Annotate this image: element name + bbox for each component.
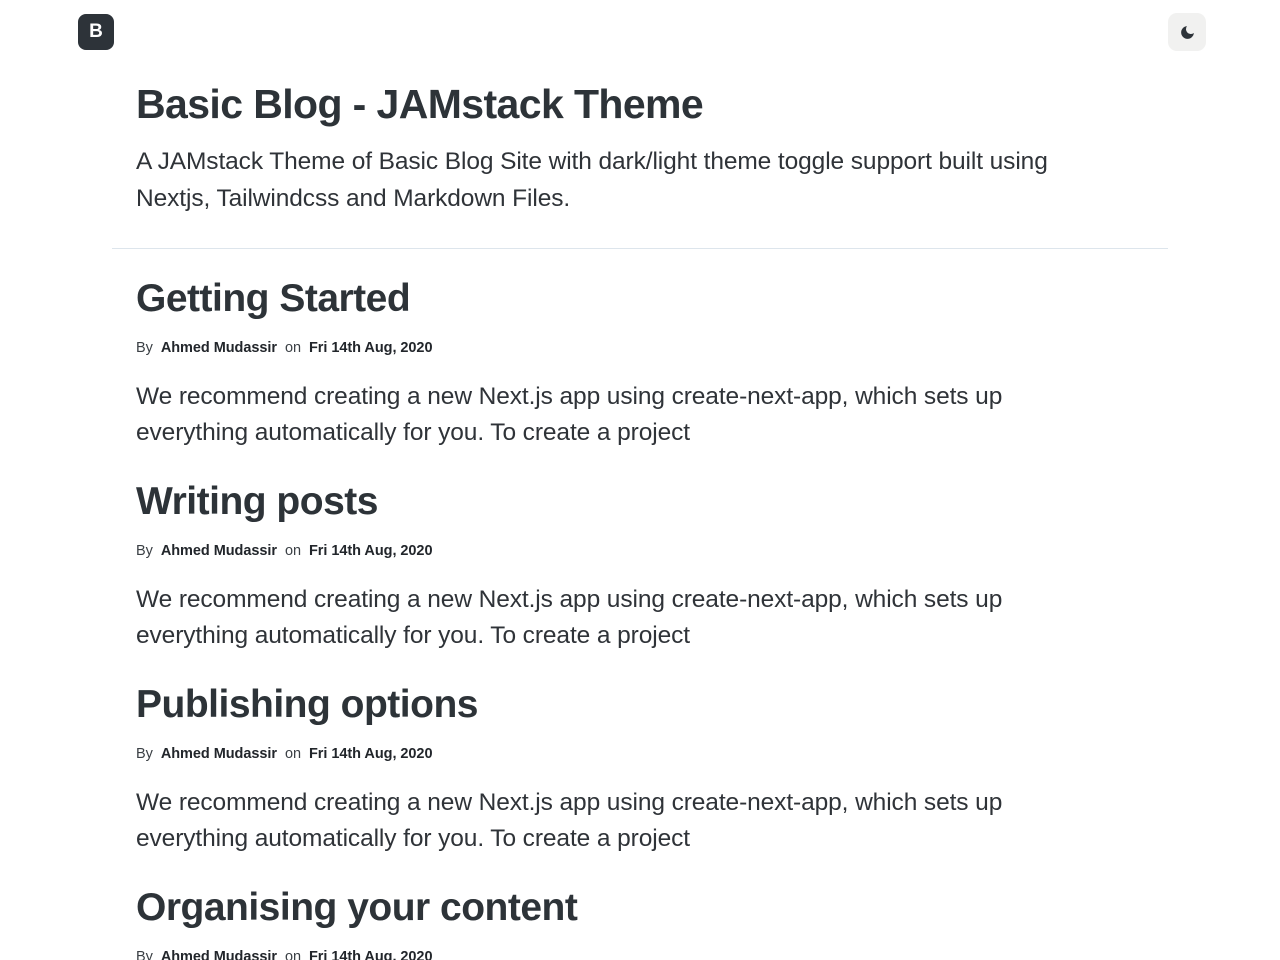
moon-icon — [1179, 24, 1196, 41]
byline-on-label: on — [285, 745, 301, 764]
post-title-link[interactable]: Publishing options — [136, 682, 478, 729]
post-author: Ahmed Mudassir — [161, 948, 277, 960]
post-title-link[interactable]: Organising your content — [136, 885, 577, 932]
post-item: Getting Started By Ahmed Mudassir on Fri… — [136, 249, 1168, 451]
intro-block: Basic Blog - JAMstack Theme A JAMstack T… — [0, 64, 1280, 217]
main-content: Basic Blog - JAMstack Theme A JAMstack T… — [0, 64, 1280, 960]
byline-by-label: By — [136, 948, 153, 960]
post-item: Publishing options By Ahmed Mudassir on … — [136, 654, 1168, 857]
site-description: A JAMstack Theme of Basic Blog Site with… — [136, 144, 1096, 217]
post-list: Getting Started By Ahmed Mudassir on Fri… — [0, 249, 1280, 960]
post-author: Ahmed Mudassir — [161, 542, 277, 561]
post-date: Fri 14th Aug, 2020 — [309, 542, 432, 561]
logo-button[interactable]: B — [78, 14, 114, 50]
post-byline: By Ahmed Mudassir on Fri 14th Aug, 2020 — [136, 745, 1168, 764]
blog-page: B Basic Blog - JAMstack Theme A JAMstack… — [0, 0, 1280, 960]
post-excerpt: We recommend creating a new Next.js app … — [136, 379, 1116, 452]
theme-toggle-button[interactable] — [1168, 13, 1206, 51]
post-author: Ahmed Mudassir — [161, 745, 277, 764]
post-date: Fri 14th Aug, 2020 — [309, 948, 432, 960]
byline-by-label: By — [136, 339, 153, 358]
post-date: Fri 14th Aug, 2020 — [309, 339, 432, 358]
site-header: B — [0, 0, 1280, 64]
post-title-link[interactable]: Getting Started — [136, 276, 410, 323]
post-item: Writing posts By Ahmed Mudassir on Fri 1… — [136, 451, 1168, 654]
post-date: Fri 14th Aug, 2020 — [309, 745, 432, 764]
page-title: Basic Blog - JAMstack Theme — [136, 80, 1168, 128]
logo-b-icon: B — [89, 22, 103, 41]
post-byline: By Ahmed Mudassir on Fri 14th Aug, 2020 — [136, 542, 1168, 561]
post-byline: By Ahmed Mudassir on Fri 14th Aug, 2020 — [136, 339, 1168, 358]
byline-on-label: on — [285, 542, 301, 561]
post-author: Ahmed Mudassir — [161, 339, 277, 358]
post-excerpt: We recommend creating a new Next.js app … — [136, 785, 1116, 858]
byline-by-label: By — [136, 745, 153, 764]
post-item: Organising your content By Ahmed Mudassi… — [136, 857, 1168, 960]
byline-on-label: on — [285, 948, 301, 960]
byline-on-label: on — [285, 339, 301, 358]
post-byline: By Ahmed Mudassir on Fri 14th Aug, 2020 — [136, 948, 1168, 960]
byline-by-label: By — [136, 542, 153, 561]
post-title-link[interactable]: Writing posts — [136, 479, 378, 526]
post-excerpt: We recommend creating a new Next.js app … — [136, 582, 1116, 655]
